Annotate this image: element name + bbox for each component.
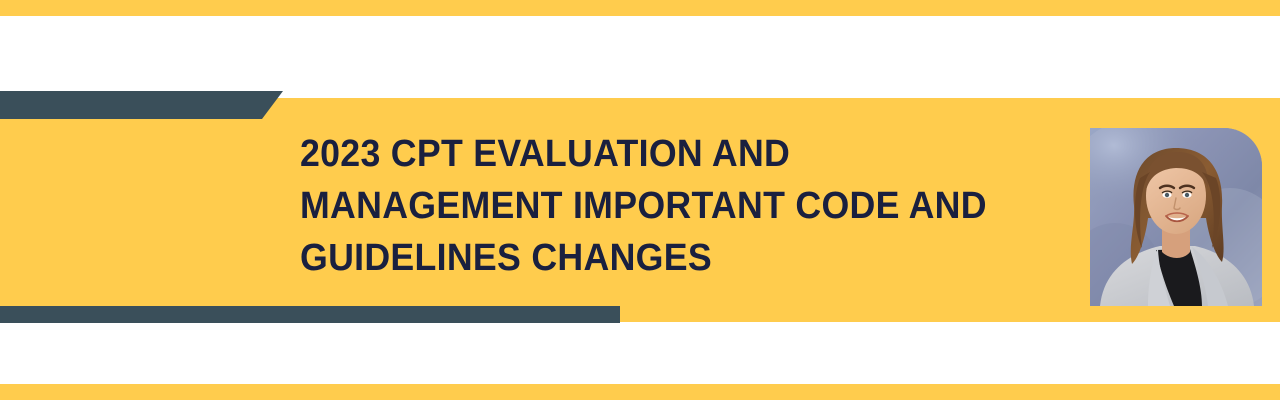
title-line-2: MANAGEMENT IMPORTANT CODE AND xyxy=(300,180,1014,232)
bottom-yellow-strip xyxy=(0,384,1280,400)
portrait-image xyxy=(1090,128,1262,306)
top-yellow-strip xyxy=(0,0,1280,16)
slanted-accent-bar-top xyxy=(0,91,283,119)
title-line-3: GUIDELINES CHANGES xyxy=(300,232,1014,284)
page-title: 2023 CPT EVALUATION AND MANAGEMENT IMPOR… xyxy=(300,128,1060,284)
title-line-1: 2023 CPT EVALUATION AND xyxy=(300,128,1014,180)
accent-bar-bottom xyxy=(0,306,620,323)
webinar-title-banner: 2023 CPT EVALUATION AND MANAGEMENT IMPOR… xyxy=(0,0,1280,400)
speaker-portrait xyxy=(1090,128,1262,306)
